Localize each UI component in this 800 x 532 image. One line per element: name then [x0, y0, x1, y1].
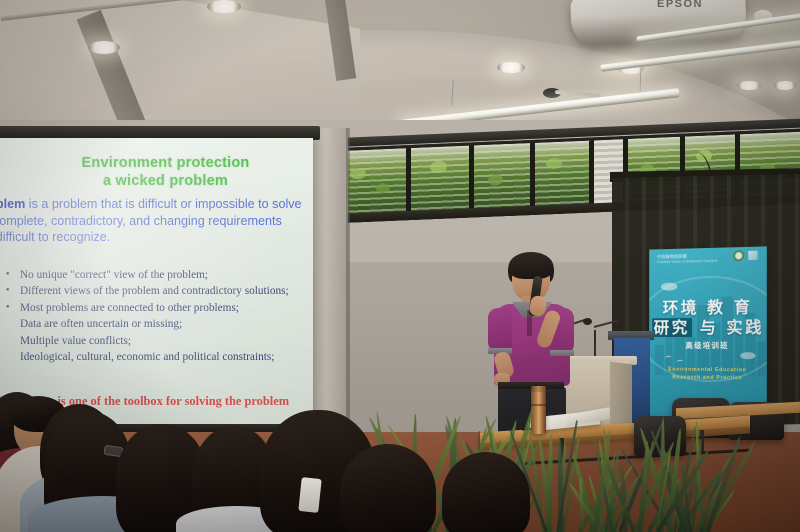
banner-headline-2c: 实践 [726, 318, 764, 337]
list-item: Most problems are connected to other pro… [0, 301, 303, 316]
plant-leaf [638, 441, 650, 532]
slide-paragraph-rest: is a problem that is difficult or imposs… [0, 197, 302, 244]
slide-paragraph: A wicked problem is a problem that is di… [0, 196, 303, 246]
banner-english-line-1: Environmental Education [649, 367, 767, 374]
banner-headline-2b: 与 [700, 318, 718, 337]
speaker-hair [509, 252, 553, 279]
wall-pilaster [312, 128, 348, 438]
presentation-photo-scene: EPSON [0, 0, 800, 532]
audience-head [340, 444, 436, 532]
list-item: Different views of the problem and contr… [0, 284, 303, 299]
banner-subtitle-cn: 高级培训班 [649, 340, 767, 351]
thermos-band [531, 404, 546, 406]
audience-head [442, 452, 530, 532]
potted-plant-right [540, 408, 710, 532]
wall-pilaster-edge [346, 128, 350, 438]
banner-headline-2: 研究 与 实践 [649, 314, 767, 339]
slide-title-line-2: a wicked problem [103, 173, 228, 189]
projector-brand-label: EPSON [640, 0, 720, 10]
downlight-icon [497, 62, 525, 73]
list-item: No unique "correct" view of the problem; [0, 268, 303, 283]
list-item: Multiple value conflicts; [0, 334, 303, 349]
cloud-icon [740, 352, 755, 359]
downlight-icon [737, 81, 761, 90]
downlight-icon [207, 0, 241, 13]
projection-screen: Environment protection a wicked problem … [0, 138, 313, 430]
banner-org-name-en: Chinese Union of Botanical Gardens [657, 259, 718, 264]
thermos-lid [531, 386, 546, 392]
downlight-icon [774, 81, 796, 90]
banner-english-line-2: Research and Practice [649, 374, 767, 381]
slide-bullet-list: No unique "correct" view of the problem;… [0, 268, 303, 366]
secondary-logo-icon [748, 251, 757, 260]
list-item: Ideological, cultural, economic and poli… [0, 350, 303, 365]
microphone-icon [583, 318, 592, 325]
presentation-slide: Environment protection a wicked problem … [0, 138, 313, 430]
organization-logo-icon [733, 250, 744, 261]
banner-headline-2a: 研究 [652, 318, 692, 337]
tissue-paper [298, 477, 321, 513]
slide-title: Environment protection a wicked problem [0, 154, 313, 190]
slide-paragraph-bold: A wicked problem [0, 197, 25, 211]
slide-title-line-1: Environment protection [82, 155, 250, 171]
downlight-icon [88, 41, 120, 54]
speaker-cuff-right [550, 350, 574, 356]
speaker-sleeve-left [488, 308, 512, 352]
list-item: Data are often uncertain or missing; [0, 317, 303, 332]
